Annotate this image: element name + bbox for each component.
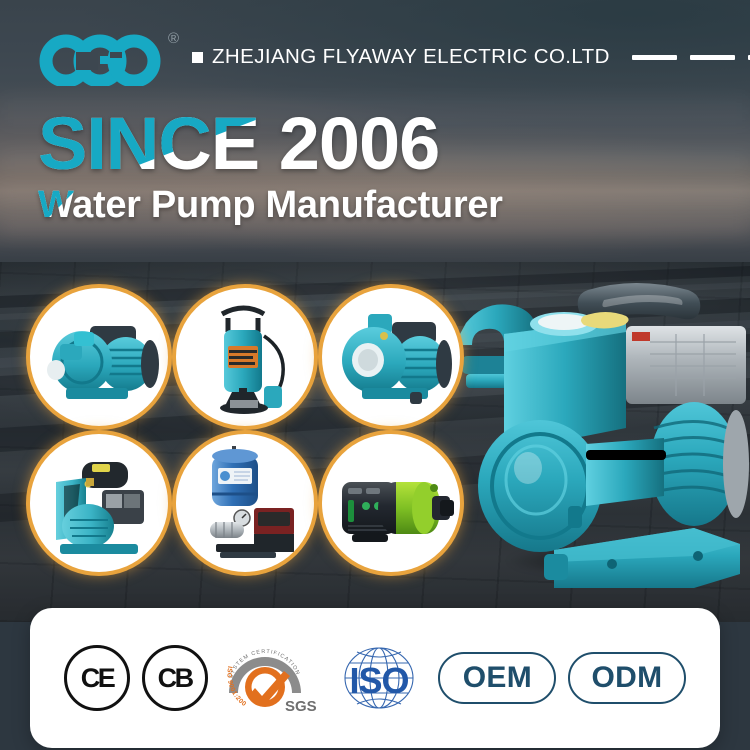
header-dashes: [632, 55, 750, 60]
hero-pump-image: [436, 268, 750, 598]
booster-system-art: [176, 434, 314, 572]
product-thumb-centrifugal-pump[interactable]: [322, 288, 460, 426]
centrifugal-pump-art: [322, 288, 460, 426]
company-name-group: ZHEJIANG FLYAWAY ELECTRIC CO.LTD: [192, 45, 750, 69]
oem-label: OEM: [463, 663, 532, 693]
registered-mark: ®: [168, 30, 179, 47]
certification-odm[interactable]: ODM: [568, 652, 686, 704]
odm-label: ODM: [592, 663, 663, 693]
banner-header: ® ZHEJIANG FLYAWAY ELECTRIC CO.LTD: [0, 26, 750, 88]
certification-iso[interactable]: ISO: [331, 641, 427, 715]
certification-oem[interactable]: OEM: [438, 652, 556, 704]
sgs-label: SGS: [285, 698, 317, 715]
product-thumbnail-grid: [30, 288, 460, 572]
certification-cb[interactable]: CB: [142, 645, 208, 711]
peripheral-pump-art: [30, 288, 168, 426]
product-thumb-peripheral-pump[interactable]: [30, 288, 168, 426]
product-thumb-circulation-pump[interactable]: [322, 434, 460, 572]
certification-sgs[interactable]: SYSTEM CERTIFICATION ISO 9001:2000 SGS: [219, 641, 319, 715]
product-thumb-booster-pressure-system[interactable]: [176, 434, 314, 572]
ce-badge-icon: CE: [64, 645, 130, 711]
odm-badge-icon: ODM: [568, 652, 686, 704]
headline-subtitle: Water Pump Manufacturer Water Pump Manuf…: [38, 186, 658, 226]
certification-ce[interactable]: CE: [64, 645, 130, 711]
sgs-badge-icon: SYSTEM CERTIFICATION ISO 9001:2000 SGS: [219, 641, 319, 715]
thumbnail-row: [30, 434, 460, 572]
headline-since: SINCE 2006 SINCE 2006: [38, 108, 658, 179]
headline-subtitle-text: Water Pump Manufacturer: [38, 184, 503, 226]
product-thumb-self-priming-pump[interactable]: [30, 434, 168, 572]
certification-card: CE CB SYSTEM CERTIFICATION: [30, 608, 720, 748]
ce-label: CE: [81, 665, 114, 692]
headline-block: SINCE 2006 SINCE 2006 Water Pump Manufac…: [38, 108, 658, 226]
cgo-logo-mark: [36, 28, 186, 86]
product-thumb-submersible-sewage-pump[interactable]: [176, 288, 314, 426]
self-priming-pump-art: [30, 434, 168, 572]
promo-banner: ® ZHEJIANG FLYAWAY ELECTRIC CO.LTD SINCE…: [0, 0, 750, 750]
iso-label: ISO: [349, 660, 408, 701]
headline-since-text: SINCE 2006: [38, 102, 439, 185]
company-name: ZHEJIANG FLYAWAY ELECTRIC CO.LTD: [212, 45, 610, 69]
hero-volute: [478, 420, 602, 552]
dash-icon: [632, 55, 677, 60]
oem-badge-icon: OEM: [438, 652, 556, 704]
thumbnail-row: [30, 288, 460, 426]
hero-pump-art: [436, 268, 750, 598]
dash-icon: [690, 55, 735, 60]
submersible-pump-art: [176, 288, 314, 426]
circulation-pump-art: [322, 434, 460, 572]
cgo-logo[interactable]: ®: [36, 28, 186, 86]
cb-badge-icon: CB: [142, 645, 208, 711]
square-bullet-icon: [192, 52, 203, 63]
cb-label: CB: [158, 665, 192, 692]
iso-badge-icon: ISO: [331, 641, 427, 715]
